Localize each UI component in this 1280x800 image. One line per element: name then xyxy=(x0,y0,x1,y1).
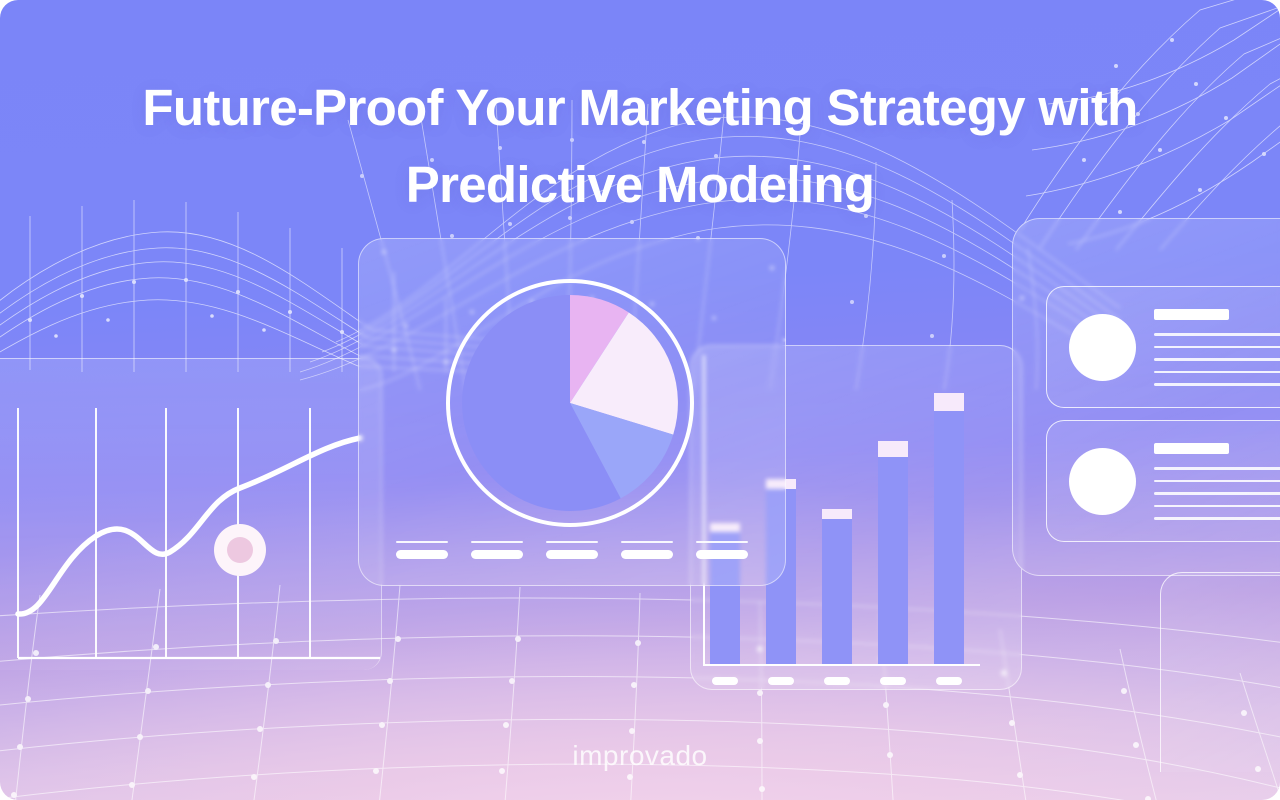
bar-tick-4 xyxy=(880,677,906,685)
legend-swatch xyxy=(621,550,673,559)
title-line-2: Predictive Modeling xyxy=(0,147,1280,224)
legend-swatch xyxy=(396,550,448,559)
list-item-line xyxy=(1154,333,1280,336)
legend-swatch xyxy=(471,550,523,559)
avatar xyxy=(1069,448,1136,515)
bar-cap-5 xyxy=(934,393,964,411)
list-item-line xyxy=(1154,346,1280,349)
list-item-text-block xyxy=(1154,443,1280,530)
list-item[interactable] xyxy=(1046,286,1280,408)
bar-tick-5 xyxy=(936,677,962,685)
list-item-title xyxy=(1154,309,1229,320)
legend-rule xyxy=(396,541,448,543)
list-item-line xyxy=(1154,358,1280,361)
pie-slices xyxy=(462,295,678,511)
pie-chart xyxy=(430,275,710,535)
bar-tick-2 xyxy=(768,677,794,685)
list-item-line xyxy=(1154,383,1280,386)
bar-tick-1 xyxy=(712,677,738,685)
bar-5 xyxy=(934,409,964,665)
legend-rule xyxy=(696,541,748,543)
pie-legend-item xyxy=(546,541,598,567)
pie-legend-item xyxy=(396,541,448,567)
pie-legend-item xyxy=(621,541,673,567)
growth-trend-line-chart xyxy=(0,380,400,680)
line-chart-gridlines xyxy=(18,408,310,658)
page-title: Future-Proof Your Marketing Strategy wit… xyxy=(0,70,1280,223)
bar-cap-4 xyxy=(878,441,908,457)
legend-swatch xyxy=(546,550,598,559)
pie-legend-item xyxy=(471,541,523,567)
bar-cap-3 xyxy=(822,509,852,519)
list-item-line xyxy=(1154,467,1280,470)
line-chart-marker-inner xyxy=(227,537,253,563)
list-item-line xyxy=(1154,505,1280,508)
legend-rule xyxy=(471,541,523,543)
list-item-text-block xyxy=(1154,309,1280,396)
hero-banner: Future-Proof Your Marketing Strategy wit… xyxy=(0,0,1280,800)
legend-rule xyxy=(621,541,673,543)
avatar xyxy=(1069,314,1136,381)
legend-rule xyxy=(546,541,598,543)
list-item-line xyxy=(1154,480,1280,483)
pie-chart-legend xyxy=(396,541,748,567)
list-item-line xyxy=(1154,492,1280,495)
pie-legend-item xyxy=(696,541,748,567)
improvado-logo: improvado xyxy=(0,740,1280,772)
title-line-1: Future-Proof Your Marketing Strategy wit… xyxy=(142,79,1137,136)
bar-4 xyxy=(878,455,908,665)
list-item-title xyxy=(1154,443,1229,454)
list-item[interactable] xyxy=(1046,420,1280,542)
line-chart-series xyxy=(18,438,360,614)
bar-3 xyxy=(822,517,852,665)
legend-swatch xyxy=(696,550,748,559)
list-item-line xyxy=(1154,371,1280,374)
bar-chart-tick-labels xyxy=(712,677,962,685)
list-item-line xyxy=(1154,517,1280,520)
bar-tick-3 xyxy=(824,677,850,685)
